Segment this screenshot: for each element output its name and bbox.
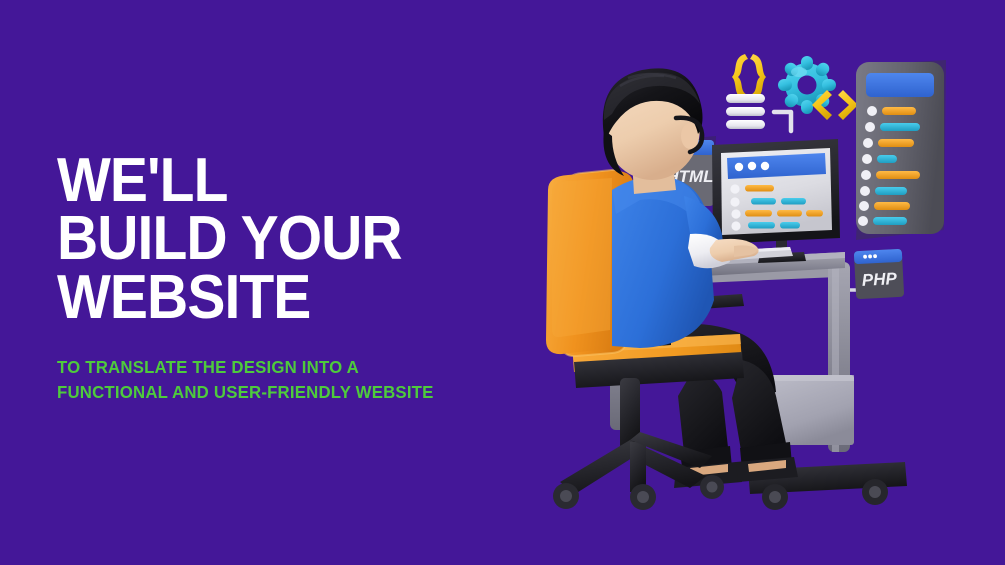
promo-banner: WE'LL BUILD YOUR WEBSITE TO TRANSLATE TH… (0, 0, 1005, 565)
curly-braces-icon (732, 54, 766, 100)
gear-icon (778, 56, 836, 114)
developer-illustration: HTML PHP (0, 0, 1005, 565)
php-card: PHP (854, 249, 904, 299)
tablet-code-panel (856, 60, 946, 240)
stacked-lines-icon (726, 94, 765, 129)
php-card-label: PHP (861, 269, 898, 290)
corner-bracket-icon (774, 112, 791, 131)
